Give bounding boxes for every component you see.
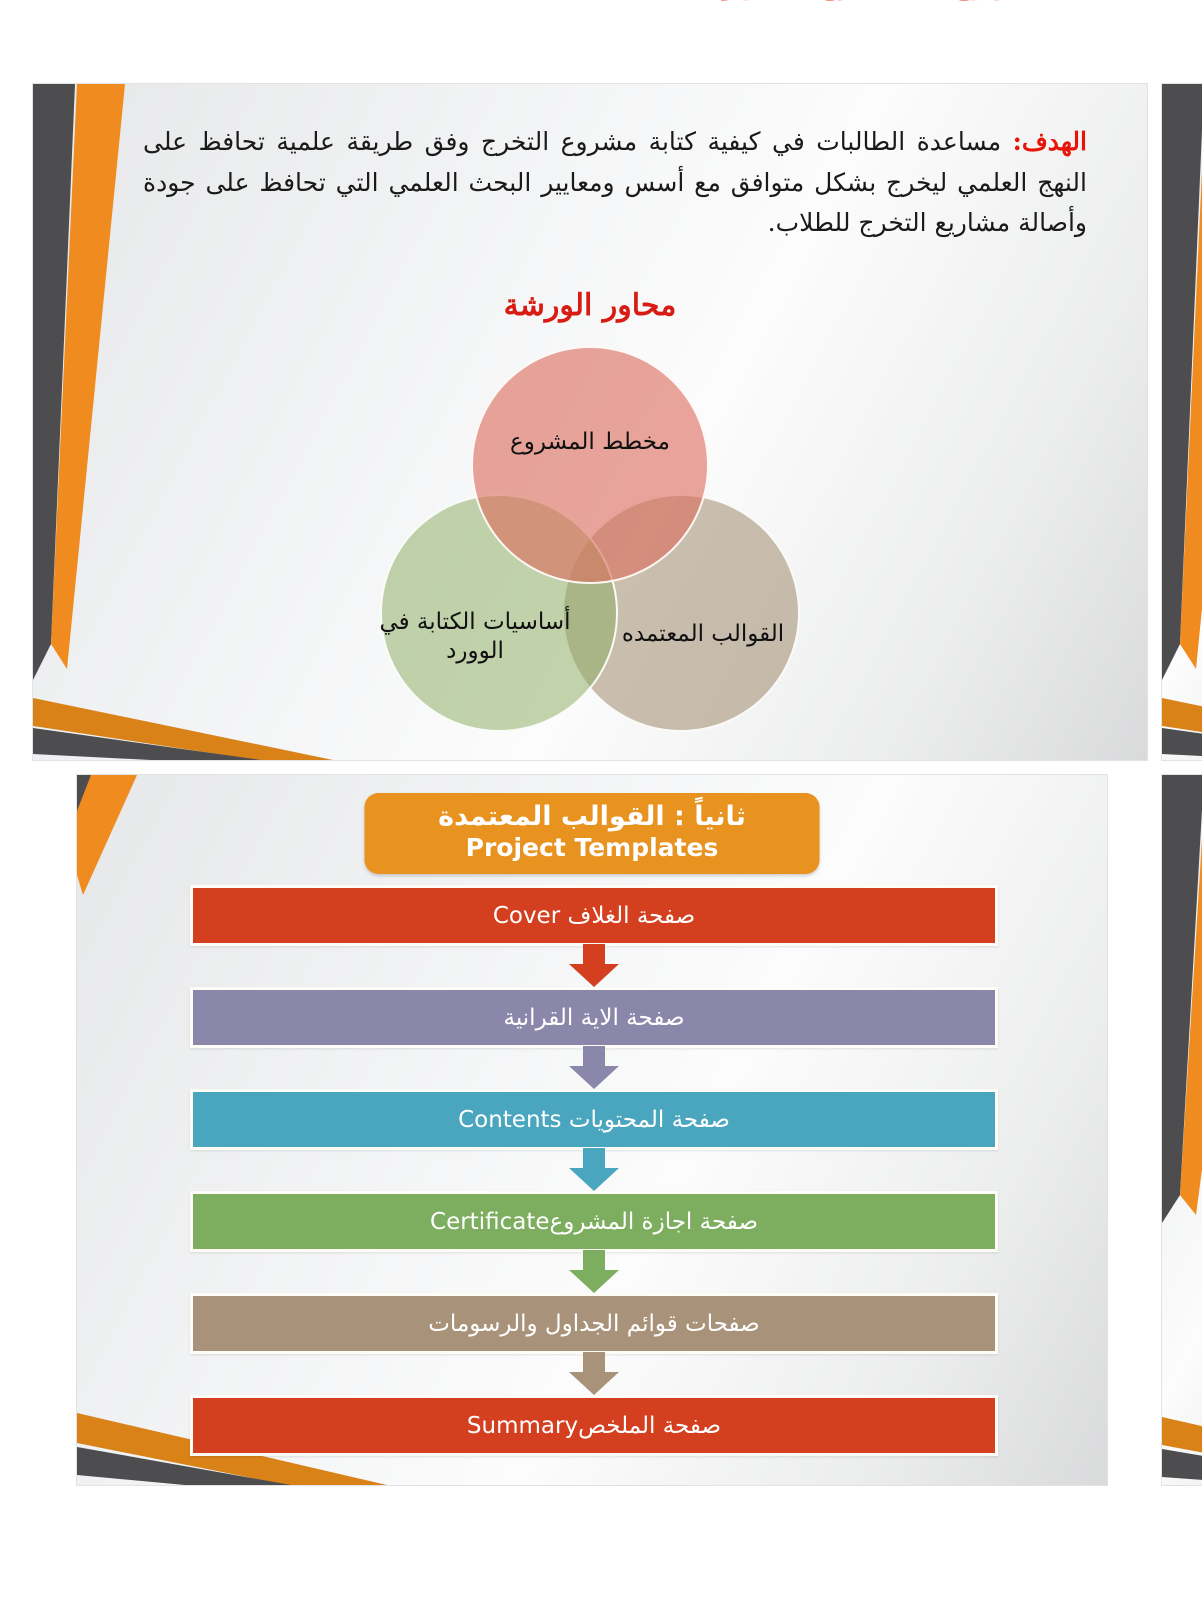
- flow-step-5[interactable]: صفحات قوائم الجداول والرسومات: [190, 1293, 998, 1354]
- topics-heading: محاور الورشة: [33, 288, 1147, 323]
- flow-bar-quran-verse[interactable]: صفحة الاية القرانية: [190, 987, 998, 1048]
- venn-label-templates: القوالب المعتمده: [622, 620, 784, 649]
- flow-bar-cover[interactable]: صفحة الغلاف Cover: [190, 885, 998, 946]
- banner-title-english: Project Templates: [365, 833, 820, 862]
- venn-circle-project-plan[interactable]: مخطط المشروع: [471, 346, 709, 584]
- flow-bar-certificate[interactable]: صفحة اجازة المشروعCertificate: [190, 1191, 998, 1252]
- objective-text: مساعدة الطالبات في كيفية كتابة مشروع الت…: [143, 127, 1087, 237]
- flow-step-4[interactable]: صفحة اجازة المشروعCertificate: [190, 1191, 998, 1252]
- flow-arrow-4: [190, 1252, 998, 1293]
- cut-off-header-text: مشروع التخرج ( ورشة عمل ): [0, 0, 1202, 60]
- flow-step-3[interactable]: صفحة المحتويات Contents: [190, 1089, 998, 1150]
- flow-bar-summary[interactable]: صفحة الملخصSummary: [190, 1395, 998, 1456]
- partial-slide1b-decoration: [1162, 84, 1202, 760]
- slide-objective-and-topics[interactable]: الهدف: مساعدة الطالبات في كيفية كتابة مش…: [33, 84, 1147, 760]
- templates-flowchart: صفحة الغلاف Cover صفحة الاية القرانية صف…: [190, 885, 998, 1456]
- venn-label-word-basics: أساسيات الكتابة في الوورد: [358, 608, 592, 667]
- slide-project-templates[interactable]: ثانياً : القوالب المعتمدة Project Templa…: [77, 775, 1107, 1485]
- flow-step-2[interactable]: صفحة الاية القرانية: [190, 987, 998, 1048]
- flow-arrow-2: [190, 1048, 998, 1089]
- partial-slide-right-row2[interactable]: [1162, 775, 1202, 1485]
- objective-paragraph: الهدف: مساعدة الطالبات في كيفية كتابة مش…: [143, 122, 1087, 244]
- flow-arrow-5: [190, 1354, 998, 1395]
- objective-label: الهدف:: [1013, 127, 1087, 156]
- venn-label-project-plan: مخطط المشروع: [510, 428, 670, 457]
- partial-slide-right-row1[interactable]: [1162, 84, 1202, 760]
- partial-slide1b-bottom-decoration: [1162, 650, 1202, 760]
- templates-banner[interactable]: ثانياً : القوالب المعتمدة Project Templa…: [365, 793, 820, 874]
- flow-bar-tables-figures[interactable]: صفحات قوائم الجداول والرسومات: [190, 1293, 998, 1354]
- partial-slide2b-bottom-decoration: [1162, 1375, 1202, 1485]
- flow-step-6[interactable]: صفحة الملخصSummary: [190, 1395, 998, 1456]
- flow-arrow-1: [190, 946, 998, 987]
- flow-step-1[interactable]: صفحة الغلاف Cover: [190, 885, 998, 946]
- flow-arrow-3: [190, 1150, 998, 1191]
- banner-title-arabic: ثانياً : القوالب المعتمدة: [365, 801, 820, 832]
- partial-slide2b-decoration: [1162, 775, 1202, 1485]
- flow-bar-contents[interactable]: صفحة المحتويات Contents: [190, 1089, 998, 1150]
- venn-diagram: القوالب المعتمده أساسيات الكتابة في الوو…: [380, 346, 800, 736]
